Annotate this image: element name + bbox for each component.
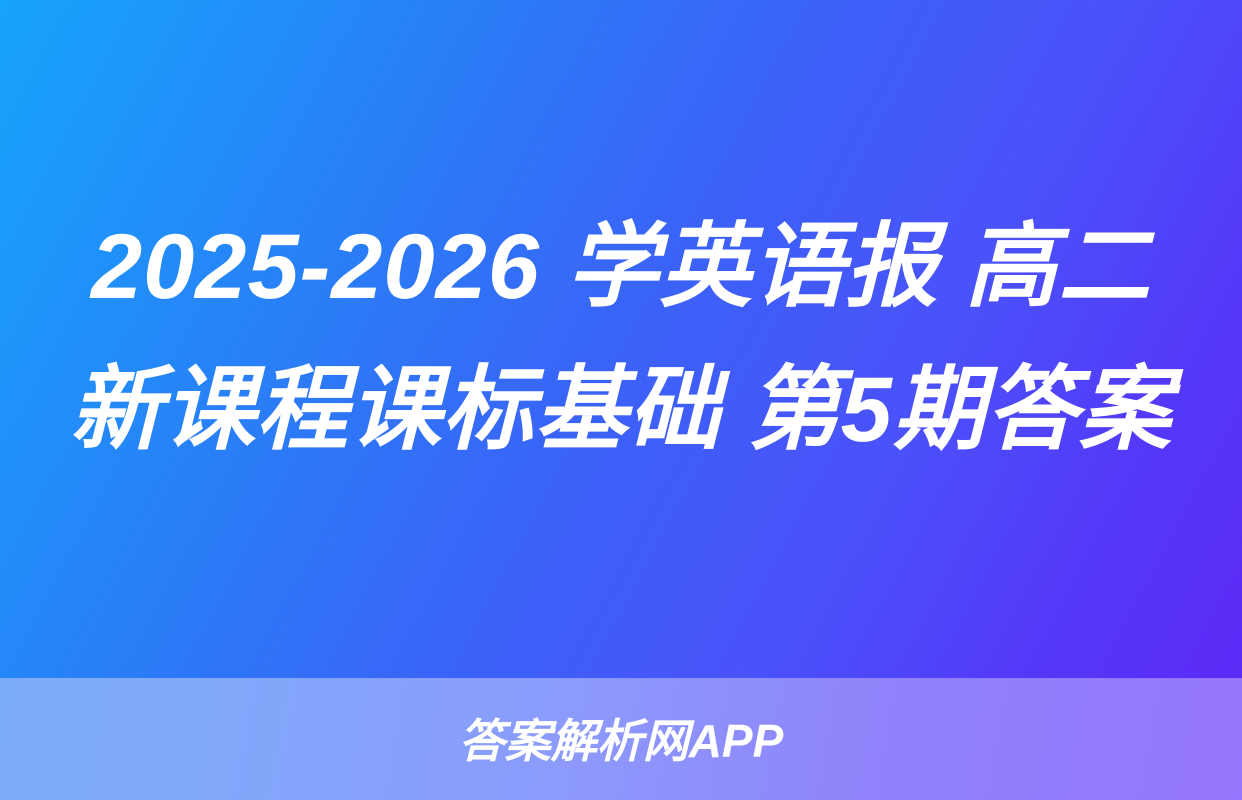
poster-root: 2025-2026 学英语报 高二 新课程课标基础 第5期答案 答案解析网APP <box>0 0 1242 800</box>
watermark-band: 答案解析网APP <box>0 678 1242 800</box>
app-watermark: 答案解析网APP <box>459 718 784 764</box>
title-block: 2025-2026 学英语报 高二 新课程课标基础 第5期答案 <box>0 0 1242 678</box>
page-title: 2025-2026 学英语报 高二 新课程课标基础 第5期答案 <box>60 196 1182 482</box>
